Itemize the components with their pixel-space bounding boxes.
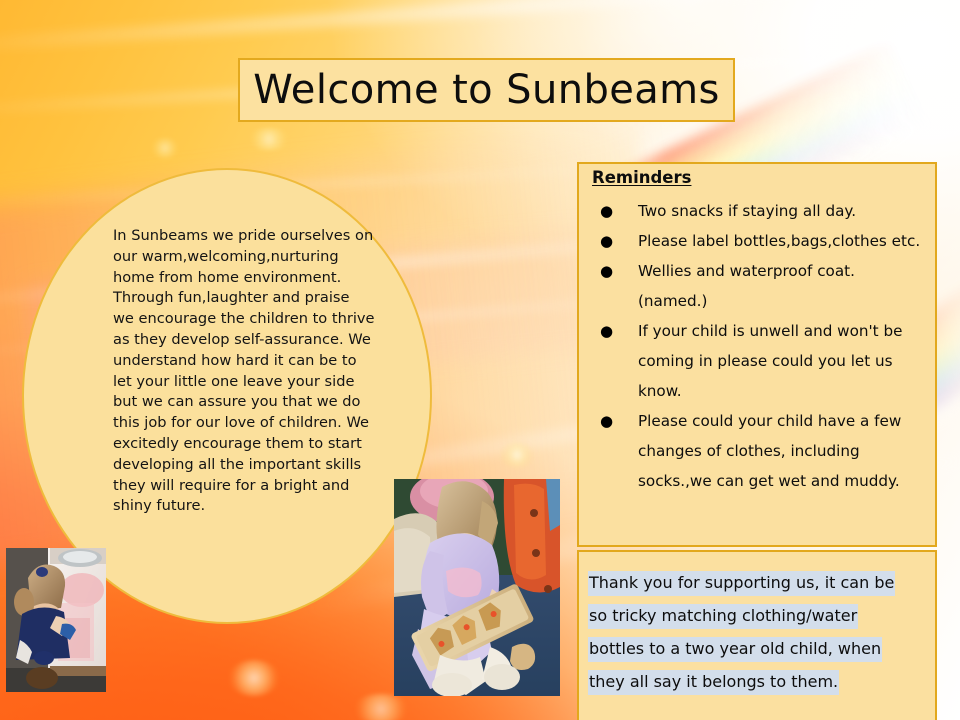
list-item: ● Wellies and waterproof coat. (named.) [592,256,928,316]
thank-you-line: Thank you for supporting us, it can be [588,571,895,596]
list-item: ● Please label bottles,bags,clothes etc. [592,226,928,256]
intro-paragraph: In Sunbeams we pride ourselves on our wa… [113,226,375,517]
thank-you-text: Thank you for supporting us, it can be s… [588,571,928,703]
bokeh-glow-icon [228,660,280,696]
slide-canvas: Welcome to Sunbeams In Sunbeams we pride… [0,0,960,720]
bullet-icon: ● [600,196,613,226]
list-item-label: Wellies and waterproof coat. (named.) [638,262,855,310]
thank-you-line: they all say it belongs to them. [588,670,839,695]
bokeh-glow-icon [500,442,534,468]
list-item: ● Please could your child have a few cha… [592,406,928,496]
bokeh-glow-icon [150,138,180,158]
reminders-heading: Reminders [592,168,691,187]
list-item: ● Two snacks if staying all day. [592,196,928,226]
list-item-label: Two snacks if staying all day. [638,202,856,220]
bokeh-glow-icon [246,128,292,150]
list-item-label: Please label bottles,bags,clothes etc. [638,232,920,250]
bullet-icon: ● [600,256,613,286]
thank-you-line: bottles to a two year old child, when [588,637,882,662]
photo-left-artwork [6,548,106,692]
bullet-icon: ● [600,406,613,436]
list-item-label: Please could your child have a few chang… [638,412,901,490]
photo-right-artwork [394,479,560,696]
page-title: Welcome to Sunbeams [253,70,720,110]
list-item-label: If your child is unwell and won't be com… [638,322,902,400]
bullet-icon: ● [600,316,613,346]
thank-you-line: so tricky matching clothing/water [588,604,858,629]
photo-child-at-light-table [6,548,106,692]
title-banner: Welcome to Sunbeams [238,58,735,122]
list-item: ● If your child is unwell and won't be c… [592,316,928,406]
bullet-icon: ● [600,226,613,256]
photo-child-with-puzzle [394,479,560,696]
reminders-list: ● Two snacks if staying all day. ● Pleas… [592,196,928,496]
bokeh-glow-icon [352,694,410,720]
